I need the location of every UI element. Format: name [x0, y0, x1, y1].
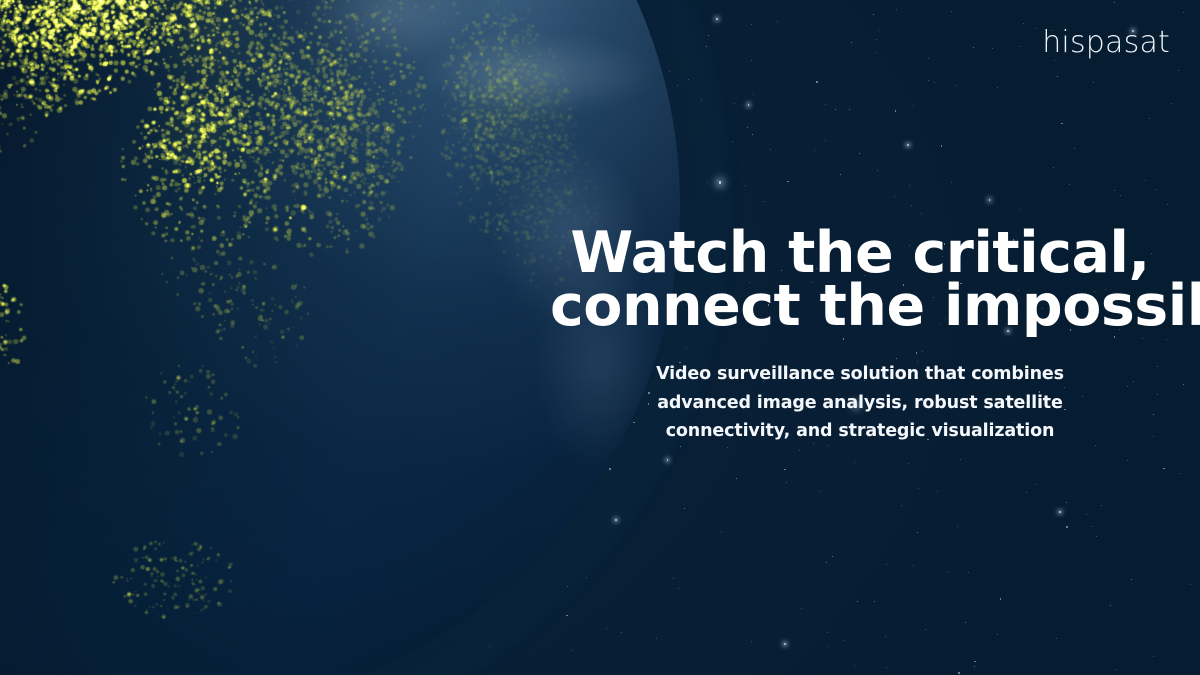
star — [828, 646, 829, 647]
star — [1115, 669, 1116, 670]
star — [928, 58, 929, 59]
star — [1061, 123, 1062, 124]
star — [786, 482, 787, 483]
star — [937, 491, 938, 492]
star — [784, 469, 785, 470]
star — [716, 18, 718, 20]
star — [721, 531, 722, 532]
star — [859, 153, 860, 154]
hispasat-logo: hispasat — [1042, 28, 1170, 58]
star — [1036, 484, 1037, 485]
star — [827, 632, 828, 633]
star — [751, 60, 752, 61]
star — [734, 103, 735, 104]
star — [1056, 638, 1057, 639]
star — [571, 650, 572, 651]
star — [854, 665, 855, 666]
star — [851, 42, 852, 43]
star — [615, 519, 617, 521]
star — [840, 174, 841, 175]
star — [1074, 148, 1075, 149]
star — [688, 79, 689, 80]
star — [566, 615, 567, 616]
subtitle-line-1: Video surveillance solution that combine… — [550, 360, 1170, 388]
star — [669, 71, 670, 72]
star — [717, 180, 718, 181]
star — [928, 80, 929, 81]
star — [656, 638, 657, 639]
hero-copy-block: Watch the critical, connect the impossib… — [550, 226, 1170, 445]
star — [857, 601, 858, 602]
star — [918, 488, 919, 489]
star — [974, 666, 975, 667]
star — [907, 144, 909, 146]
star — [751, 641, 752, 642]
star — [941, 145, 942, 146]
star — [799, 450, 800, 451]
star — [1066, 502, 1067, 503]
star — [1091, 526, 1092, 527]
star — [707, 182, 708, 183]
star — [814, 150, 815, 151]
star — [877, 170, 878, 171]
star — [849, 109, 850, 110]
star — [701, 100, 702, 101]
star — [958, 672, 959, 673]
page-title: Watch the critical, connect the impossib… — [550, 226, 1170, 333]
star — [901, 505, 902, 506]
star — [706, 46, 707, 47]
star — [876, 39, 877, 40]
star — [1086, 514, 1087, 515]
star — [832, 556, 833, 557]
star — [770, 149, 771, 150]
star — [1145, 180, 1146, 181]
star — [997, 634, 998, 635]
star — [886, 667, 887, 668]
star — [1069, 184, 1070, 185]
star — [609, 468, 610, 469]
star — [1000, 598, 1001, 599]
star — [908, 463, 909, 464]
star — [1093, 82, 1094, 83]
star — [947, 572, 948, 573]
star — [960, 459, 961, 460]
hero-banner: hispasat Watch the critical, connect the… — [0, 0, 1200, 675]
star — [1171, 103, 1172, 104]
hero-subtitle: Video surveillance solution that combine… — [550, 360, 1170, 445]
star — [1127, 460, 1128, 461]
star — [992, 48, 993, 49]
star — [621, 632, 622, 633]
star — [843, 640, 844, 641]
star — [825, 140, 826, 141]
star — [777, 21, 778, 22]
star — [489, 646, 490, 647]
star — [684, 508, 685, 509]
star — [913, 565, 914, 566]
star — [911, 205, 912, 206]
star — [1131, 579, 1132, 580]
star — [957, 526, 958, 527]
star — [752, 134, 753, 135]
star — [816, 81, 817, 82]
star — [732, 141, 733, 142]
star — [854, 462, 855, 463]
star — [719, 181, 722, 184]
star — [748, 102, 749, 103]
star — [1096, 536, 1097, 537]
star — [1167, 204, 1168, 205]
star — [673, 578, 674, 579]
subtitle-line-3: connectivity, and strategic visualizatio… — [550, 417, 1170, 445]
star — [951, 182, 952, 183]
star — [819, 491, 820, 492]
star — [1183, 12, 1184, 13]
star — [925, 629, 926, 630]
star — [784, 643, 786, 645]
star — [876, 52, 877, 53]
star — [1101, 505, 1102, 506]
star — [1036, 28, 1037, 29]
star — [1057, 76, 1058, 77]
star — [989, 199, 991, 201]
star — [667, 459, 669, 461]
star — [997, 87, 998, 88]
star — [567, 586, 568, 587]
headline-line-2: connect the impossible — [550, 279, 1170, 334]
star — [825, 104, 826, 105]
star — [1023, 23, 1024, 24]
star — [1026, 492, 1027, 493]
star — [1110, 605, 1111, 606]
star — [878, 30, 879, 31]
star — [1114, 2, 1115, 3]
star — [934, 82, 935, 83]
star — [1180, 473, 1181, 474]
star — [968, 572, 969, 573]
star — [895, 110, 896, 111]
star — [1066, 526, 1067, 527]
star — [586, 577, 587, 578]
star — [1053, 167, 1054, 168]
star — [835, 109, 836, 110]
star — [748, 104, 750, 106]
subtitle-line-2: advanced image analysis, robust satellit… — [550, 389, 1170, 417]
star — [1178, 70, 1179, 71]
star — [973, 47, 974, 48]
star — [1155, 189, 1156, 190]
star — [1149, 118, 1150, 119]
star — [956, 85, 957, 86]
star — [886, 564, 887, 565]
star — [1019, 209, 1020, 210]
star — [873, 14, 874, 15]
star — [751, 24, 752, 25]
star — [745, 185, 746, 186]
star — [909, 185, 910, 186]
star — [1183, 384, 1184, 385]
star — [874, 601, 875, 602]
star — [965, 622, 966, 623]
star — [753, 94, 754, 95]
star — [1059, 511, 1061, 513]
star — [708, 35, 709, 36]
star — [680, 446, 681, 447]
star — [678, 588, 679, 589]
star — [736, 478, 737, 479]
star — [787, 181, 788, 182]
star — [727, 447, 728, 448]
star — [763, 201, 764, 202]
star — [1190, 584, 1191, 585]
star — [606, 628, 607, 629]
star — [747, 127, 748, 128]
star — [894, 196, 895, 197]
star — [801, 608, 802, 609]
star — [951, 11, 952, 12]
star — [921, 213, 922, 214]
star — [1153, 656, 1154, 657]
star — [896, 9, 897, 10]
star — [885, 636, 886, 637]
star — [677, 85, 678, 86]
star — [913, 105, 914, 106]
star — [974, 661, 975, 662]
star — [917, 532, 918, 533]
star — [1054, 60, 1055, 61]
star — [1120, 195, 1121, 196]
star — [1114, 190, 1115, 191]
star — [826, 562, 827, 563]
star — [1019, 46, 1020, 47]
star — [1163, 468, 1164, 469]
